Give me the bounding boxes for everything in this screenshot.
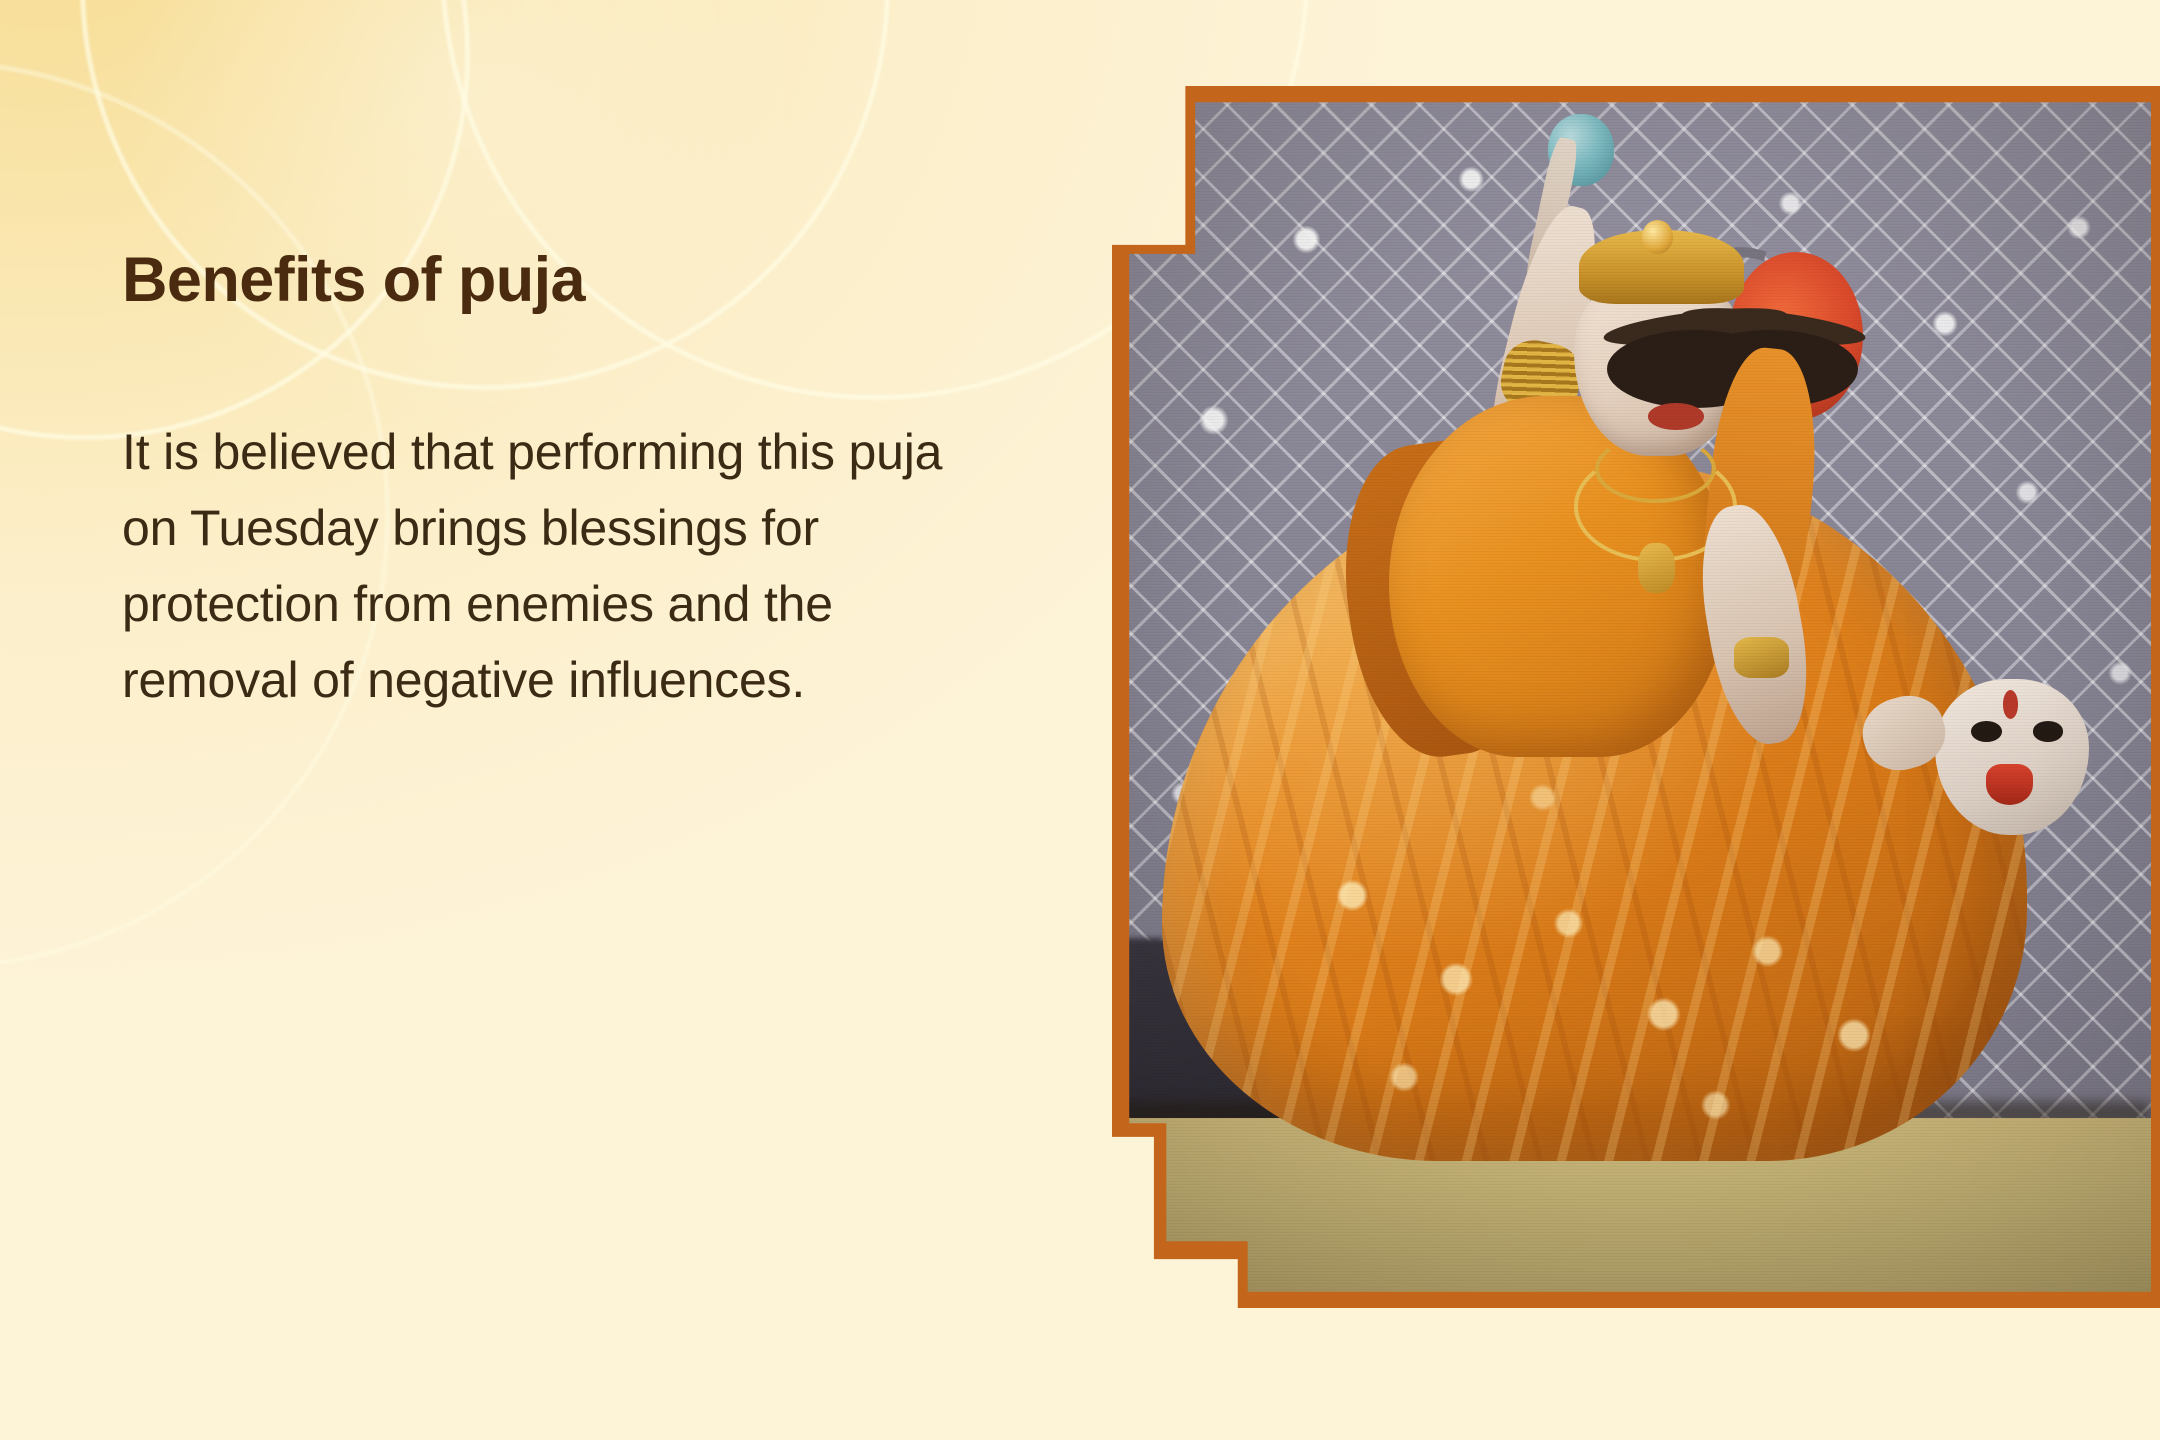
body-paragraph: It is believed that performing this puja…	[122, 414, 952, 718]
photo-grain-overlay	[1121, 95, 2151, 1299]
text-column: Benefits of puja It is believed that per…	[122, 246, 962, 718]
deity-photo	[1121, 95, 2151, 1299]
slide-canvas: Benefits of puja It is believed that per…	[0, 0, 2160, 1440]
page-title: Benefits of puja	[122, 246, 962, 314]
photo-card-border	[1112, 86, 2160, 1308]
